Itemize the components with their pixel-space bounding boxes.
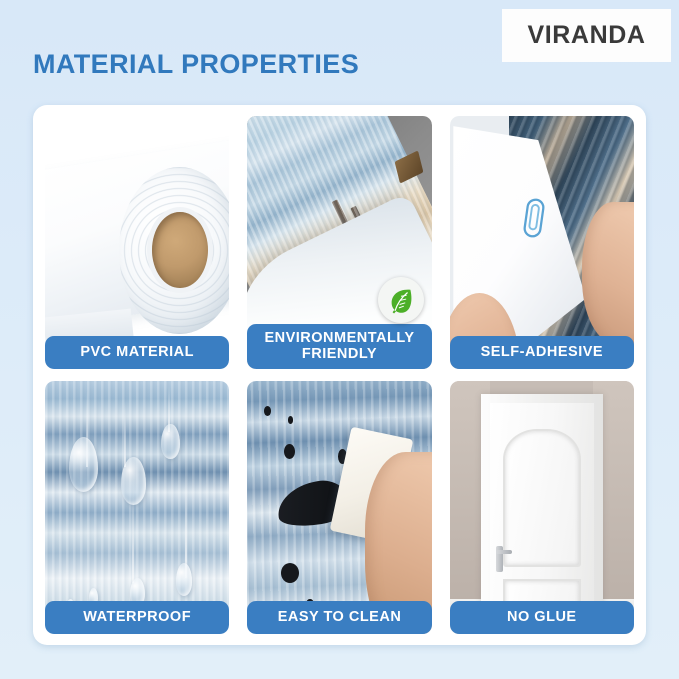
feature-label-self-adhesive: SELF-ADHESIVE: [450, 336, 634, 369]
brand-name: VIRANDA: [527, 21, 645, 50]
feature-label-waterproof: WATERPROOF: [45, 601, 229, 634]
leaf-icon: [386, 285, 416, 315]
pvc-roll-shape: [119, 167, 230, 334]
feature-card-self-adhesive[interactable]: SELF-ADHESIVE: [450, 116, 634, 369]
feature-label-easy-to-clean: EASY TO CLEAN: [247, 601, 431, 634]
hands-peeling-film-image: [450, 116, 634, 369]
stain-dot-2: [288, 416, 294, 424]
eco-leaf-badge: [378, 277, 424, 323]
feature-card-no-glue[interactable]: NO GLUE: [450, 381, 634, 634]
pvc-roll-image: [45, 116, 229, 369]
feature-card-pvc-material[interactable]: PVC MATERIAL: [45, 116, 229, 369]
features-panel: PVC MATERIAL ENVI: [33, 105, 646, 645]
door-panel-upper: [503, 429, 580, 567]
feature-card-environmentally-friendly[interactable]: ENVIRONMENTALLY FRIENDLY: [247, 116, 431, 369]
water-droplet-2: [121, 457, 147, 505]
white-door-image: [450, 381, 634, 634]
features-grid: PVC MATERIAL ENVI: [45, 116, 634, 634]
feature-label-pvc-material: PVC MATERIAL: [45, 336, 229, 369]
water-droplet-3: [161, 424, 179, 459]
water-droplets-image: [45, 381, 229, 634]
stain-dot-3: [284, 444, 295, 459]
feature-card-waterproof[interactable]: WATERPROOF: [45, 381, 229, 634]
water-droplet-4: [176, 563, 193, 596]
door-frame: [481, 394, 603, 634]
stain-dot-1: [264, 406, 271, 416]
feature-label-no-glue: NO GLUE: [450, 601, 634, 634]
page-title: MATERIAL PROPERTIES: [33, 49, 359, 80]
feature-label-environmentally-friendly: ENVIRONMENTALLY FRIENDLY: [247, 324, 431, 369]
stain-dot-5: [281, 563, 299, 583]
pvc-cardboard-core: [152, 212, 208, 289]
hand-wiping-sponge-image: [247, 381, 431, 634]
door-handle-icon: [496, 546, 503, 572]
water-droplet-1: [69, 437, 98, 493]
door-slab: [490, 403, 595, 634]
feature-label-line2: FRIENDLY: [251, 346, 427, 362]
droplet-trail-2: [124, 401, 126, 467]
brand-logo-badge: VIRANDA: [502, 9, 671, 62]
right-hand: [582, 202, 634, 344]
feature-label-line1: ENVIRONMENTALLY: [251, 330, 427, 346]
feature-card-easy-to-clean[interactable]: EASY TO CLEAN: [247, 381, 431, 634]
page-header: MATERIAL PROPERTIES VIRANDA: [0, 0, 679, 100]
